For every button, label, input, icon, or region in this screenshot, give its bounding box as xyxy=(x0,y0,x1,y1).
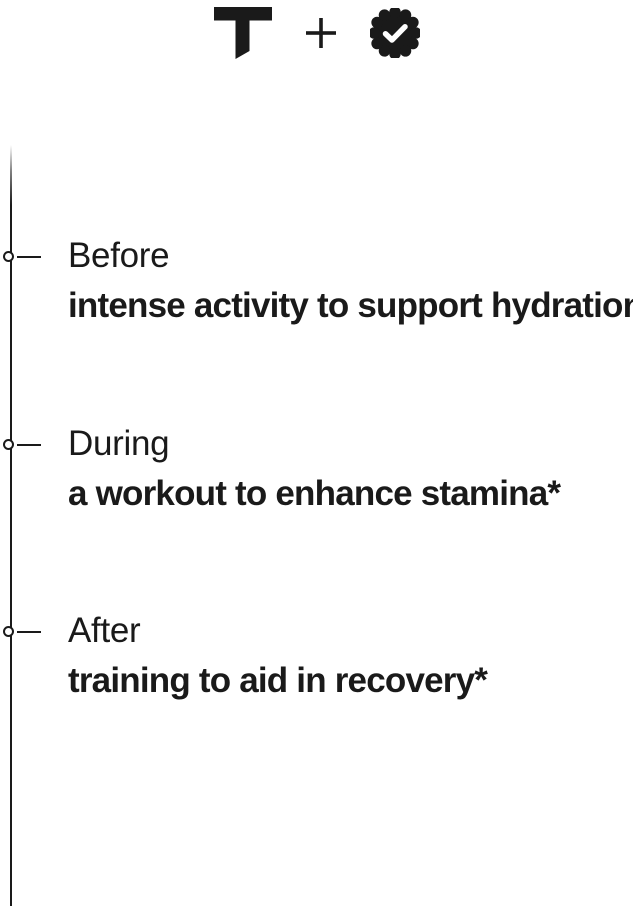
tick-line-icon xyxy=(17,444,41,446)
circle-node-icon xyxy=(3,439,14,450)
tick-line-icon xyxy=(17,631,41,633)
timeline-step-detail: training to aid in recovery* xyxy=(68,660,633,702)
timeline-step-detail: intense activity to support hydration* xyxy=(68,285,633,327)
circle-node-icon xyxy=(3,626,14,637)
timeline-marker xyxy=(0,611,56,657)
timeline-marker xyxy=(0,236,56,282)
timeline-marker xyxy=(0,424,56,470)
circle-node-icon xyxy=(3,251,14,262)
timeline-step-body: During a workout to enhance stamina* xyxy=(68,424,633,515)
timeline-step-phase: During xyxy=(68,424,633,464)
timeline-step-detail: a workout to enhance stamina* xyxy=(68,473,633,515)
tick-line-icon xyxy=(17,256,41,258)
timeline-step-phase: Before xyxy=(68,236,633,276)
timeline-step-body: Before intense activity to support hydra… xyxy=(68,236,633,327)
timeline-step-body: After training to aid in recovery* xyxy=(68,611,633,702)
usage-timeline: Before intense activity to support hydra… xyxy=(0,0,633,906)
timeline-step-phase: After xyxy=(68,611,633,651)
